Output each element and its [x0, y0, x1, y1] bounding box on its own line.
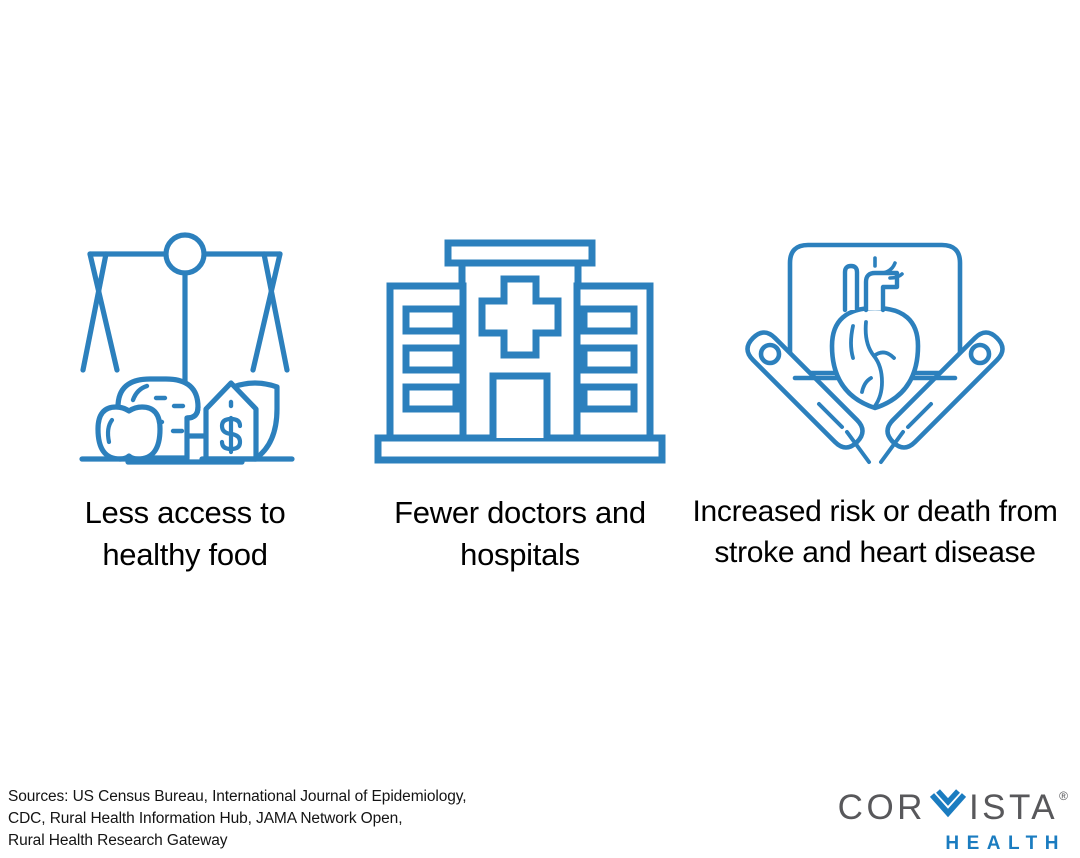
panel-less-access-healthy-food: Less access to healthy food — [15, 222, 355, 576]
chevron-heart-mark-icon — [928, 788, 968, 826]
panel-row: Less access to healthy food — [0, 222, 1080, 576]
panel-caption: Fewer doctors and hospitals — [394, 492, 646, 576]
sources-text: Sources: US Census Bureau, International… — [8, 786, 466, 852]
heart-procedure-icon — [735, 222, 1015, 470]
panel-fewer-doctors-hospitals: Fewer doctors and hospitals — [355, 222, 685, 576]
logo-subtitle-health: HEALTH — [945, 833, 1066, 855]
panel-caption: Increased risk or death from stroke and … — [692, 492, 1057, 574]
panel-caption: Less access to healthy food — [85, 492, 286, 576]
corvista-health-logo: COR ISTA ® HEALTH — [828, 788, 1068, 855]
logo-text-ista: ISTA — [969, 790, 1058, 825]
registered-trademark-icon: ® — [1059, 790, 1068, 802]
logo-text-cor: COR — [838, 790, 926, 825]
balance-scale-food-cost-icon — [70, 222, 300, 470]
logo-wordmark: COR ISTA ® — [838, 788, 1068, 826]
panel-increased-risk-stroke-heart-disease: Increased risk or death from stroke and … — [685, 222, 1065, 574]
hospital-building-icon — [370, 222, 670, 470]
